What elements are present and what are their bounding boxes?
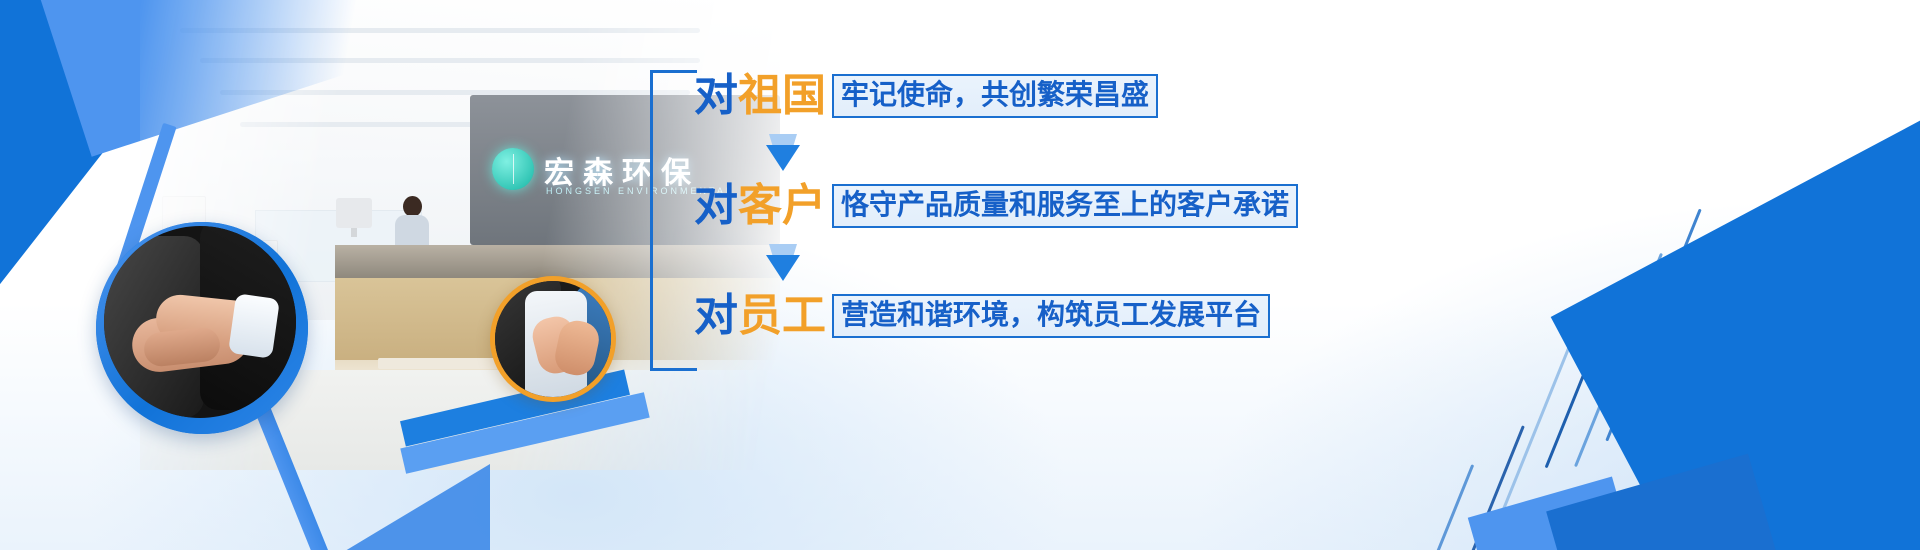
bracket-connector — [650, 70, 697, 371]
chevron-bottom-part — [766, 145, 800, 171]
desk-monitor — [336, 198, 372, 228]
value-row-country: 对祖国 牢记使命，共创繁荣昌盛 — [694, 70, 1298, 122]
applause-photo — [495, 281, 611, 397]
value-statement-customer: 恪守产品质量和服务至上的客户承诺 — [832, 184, 1298, 228]
handshake-photo-circle — [96, 222, 308, 434]
value-row-employee: 对员工 营造和谐环境，构筑员工发展平台 — [694, 290, 1298, 342]
values-list: 对祖国 牢记使命，共创繁荣昌盛 对客户 恪守产品质量和服务至上的客户承诺 — [650, 70, 1350, 460]
company-logo-icon — [492, 148, 534, 190]
value-target: 客户 — [738, 181, 826, 230]
arrow-separator-2 — [694, 232, 1298, 290]
value-title-employee: 对员工 — [694, 294, 826, 338]
ceiling-light-line — [200, 58, 700, 63]
arrow-separator-1 — [694, 122, 1298, 180]
value-title-country: 对祖国 — [694, 74, 826, 118]
company-values-banner: 宏森环保 HONGSEN ENVIRONMENTAL — [0, 0, 1920, 550]
ceiling-light-line — [180, 28, 700, 33]
receptionist-head — [403, 196, 422, 217]
value-statement-employee: 营造和谐环境，构筑员工发展平台 — [832, 294, 1270, 338]
handshake-photo — [104, 226, 296, 418]
value-title-customer: 对客户 — [694, 184, 826, 228]
value-prefix: 对 — [694, 71, 738, 120]
chevron-down-icon — [766, 244, 800, 278]
value-statement-country: 牢记使命，共创繁荣昌盛 — [832, 74, 1158, 118]
chevron-bottom-part — [766, 255, 800, 281]
chevron-top-part — [769, 134, 797, 145]
value-prefix: 对 — [694, 181, 738, 230]
chevron-down-icon — [766, 134, 800, 168]
value-target: 祖国 — [738, 71, 826, 120]
value-row-customer: 对客户 恪守产品质量和服务至上的客户承诺 — [694, 180, 1298, 232]
value-prefix: 对 — [694, 291, 738, 340]
value-rows: 对祖国 牢记使命，共创繁荣昌盛 对客户 恪守产品质量和服务至上的客户承诺 — [694, 70, 1298, 342]
applause-photo-circle — [490, 276, 616, 402]
receptionist — [395, 196, 429, 251]
shirt-cuff — [228, 293, 280, 359]
value-target: 员工 — [738, 291, 826, 340]
chevron-top-part — [769, 244, 797, 255]
